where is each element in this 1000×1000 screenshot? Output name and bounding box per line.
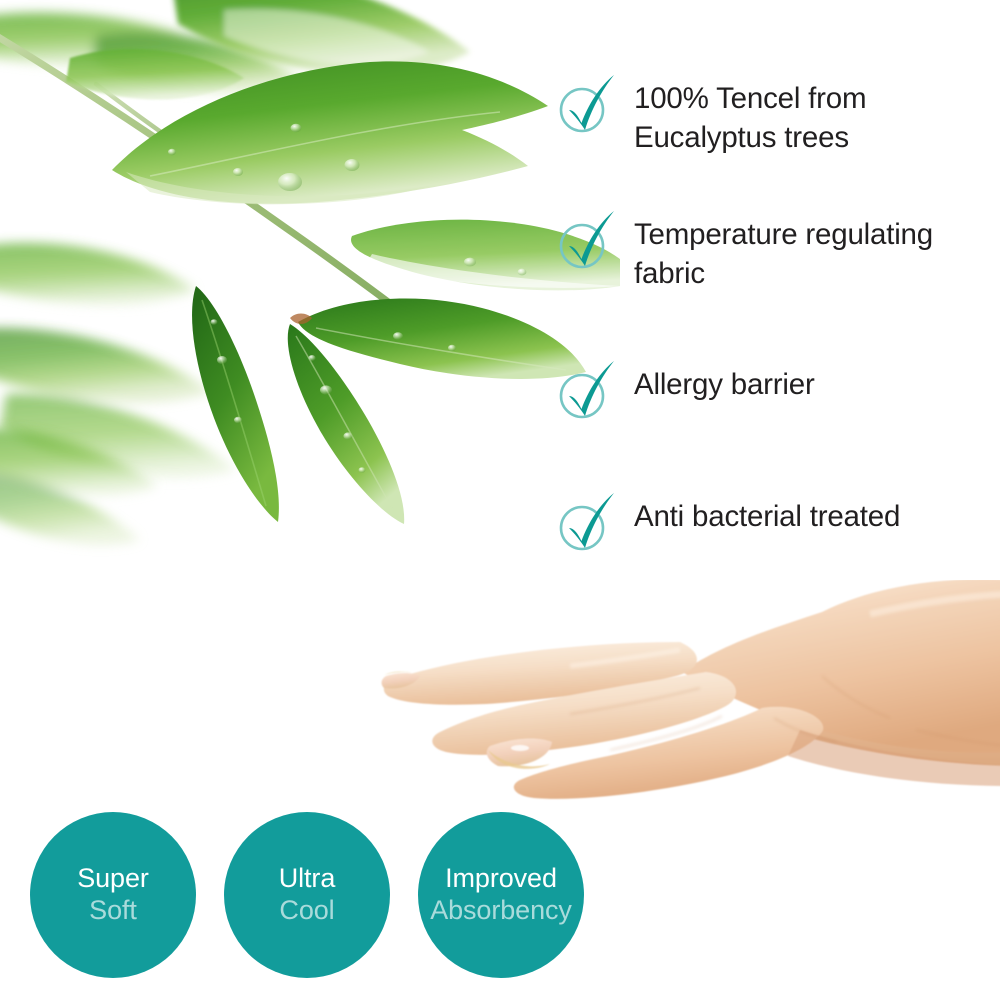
water-droplet [233,168,243,176]
badge-ultra-cool[interactable]: Ultra Cool [224,812,390,978]
hand-back [682,580,1000,753]
water-droplet [359,467,366,473]
water-droplet [234,417,242,423]
eucalyptus-branch-photo [0,0,620,560]
badge-primary-label: Ultra [279,864,336,893]
skin-highlights [570,594,1000,666]
check-circle-icon [558,360,616,422]
feature-label: Anti bacterial treated [634,492,900,537]
infographic-canvas: 100% Tencel from Eucalyptus trees Temper… [0,0,1000,1000]
thumb [514,707,823,799]
background-leaves [0,13,300,478]
middle-finger [432,672,736,755]
nail-edge [384,672,421,675]
benefit-badges: Super Soft Ultra Cool Improved Absorbenc… [30,812,584,978]
check-circle-icon [558,74,616,136]
index-finger [384,642,697,705]
skin-creases [570,676,1000,750]
feature-row: 100% Tencel from Eucalyptus trees [558,74,988,210]
lower-leaf-right [298,299,586,379]
feature-list: 100% Tencel from Eucalyptus trees Temper… [558,74,988,572]
feature-row: Anti bacterial treated [558,492,988,572]
feature-row: Temperature regulating fabric [558,210,988,360]
nail-edge [488,750,550,769]
open-palm-photo [370,580,1000,820]
feature-label: 100% Tencel from Eucalyptus trees [634,74,866,157]
water-droplet [211,319,218,325]
lower-leaf-left [288,324,404,524]
check-circle-icon [558,210,616,272]
water-droplet [278,173,302,191]
hero-leaf [112,61,548,204]
badge-secondary-label: Absorbency [430,895,572,925]
nail-highlight [511,745,529,751]
water-droplet [168,149,176,155]
badge-improved-absorbency[interactable]: Improved Absorbency [418,812,584,978]
badge-primary-label: Super [77,864,149,893]
water-droplet [393,332,403,340]
check-mark-icon [569,211,614,266]
palm-shadow [788,730,1000,786]
branch-stem [0,26,452,350]
feature-row: Allergy barrier [558,360,988,492]
check-mark-icon [569,361,614,416]
water-droplet [320,385,332,394]
water-droplet [464,258,476,267]
fingernail [487,739,552,767]
feature-label: Temperature regulating fabric [634,210,933,293]
water-droplet [217,356,227,364]
badge-secondary-label: Cool [279,895,334,925]
check-mark-icon [569,493,614,548]
water-droplet [448,345,456,351]
water-droplet [345,159,360,171]
water-droplet [343,432,352,439]
water-droplet [291,124,302,132]
water-droplet [308,355,315,361]
hanging-leaf [192,286,279,522]
fingernail [382,673,420,689]
check-circle-icon [558,492,616,554]
feature-label: Allergy barrier [634,360,815,405]
badge-super-soft[interactable]: Super Soft [30,812,196,978]
check-mark-icon [569,75,614,130]
stem-node [290,314,312,325]
water-droplet [518,269,527,276]
badge-secondary-label: Soft [89,895,137,925]
forearm [770,598,1000,766]
badge-primary-label: Improved [445,864,557,893]
